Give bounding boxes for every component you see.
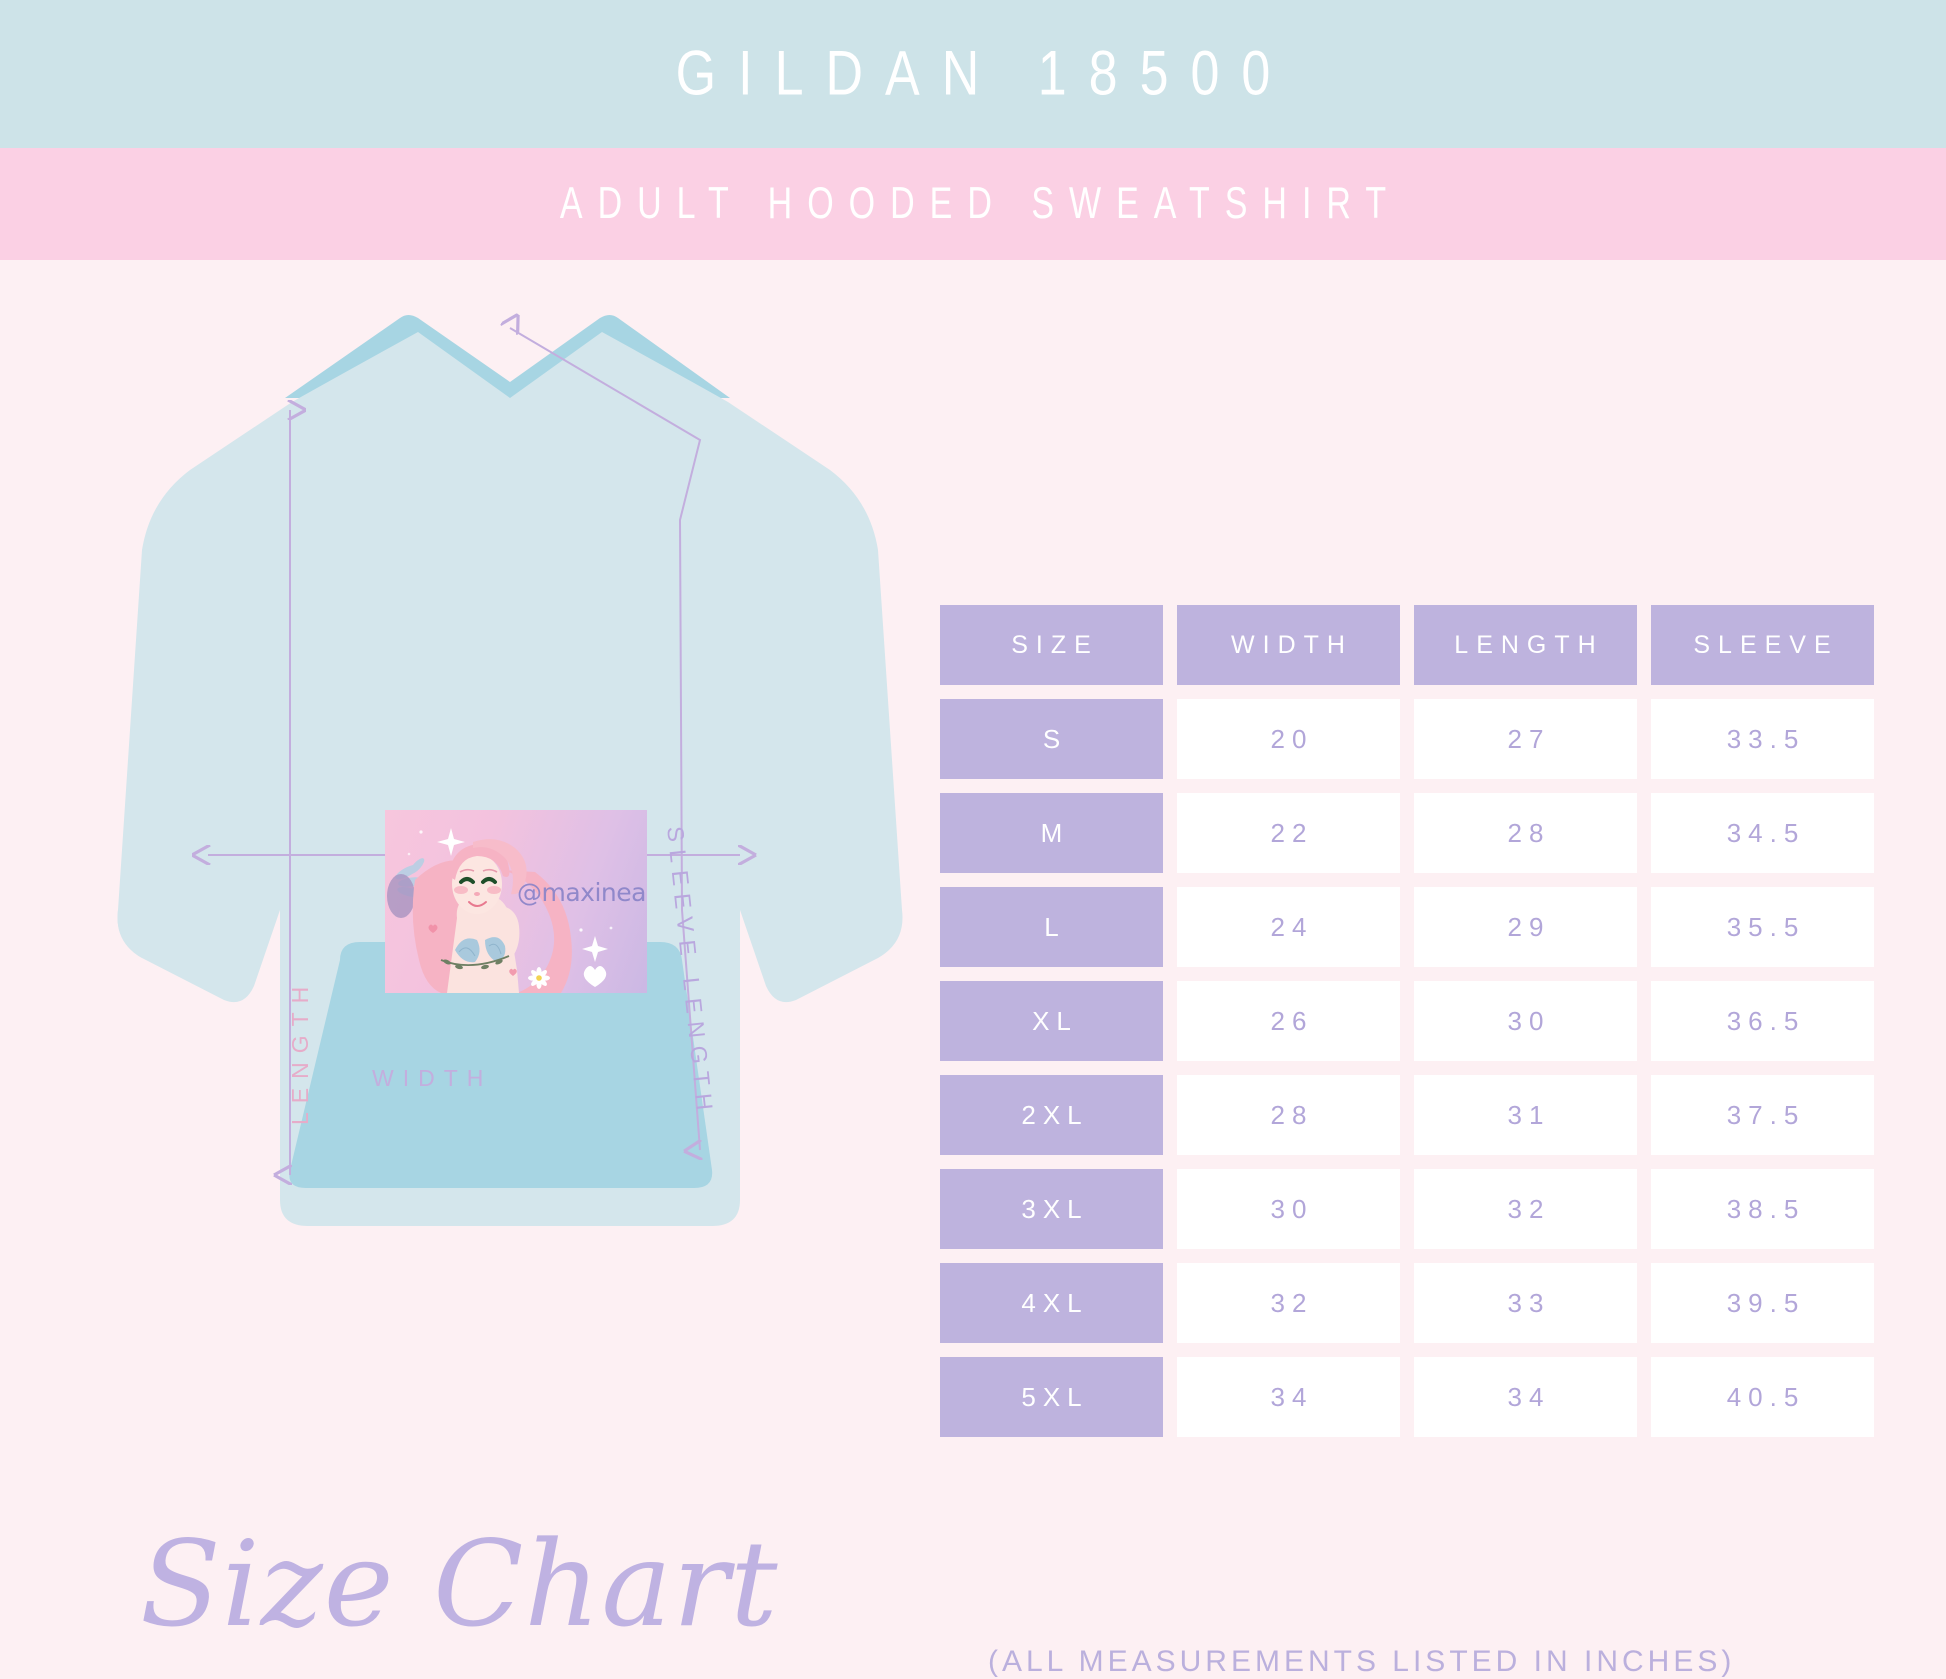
cell-width: 32 bbox=[1177, 1263, 1400, 1343]
cell-width: 30 bbox=[1177, 1169, 1400, 1249]
main-content: @maxineart WIDTH LENGTH SLEEVE LENGTH Si… bbox=[0, 260, 1946, 1549]
brand-header-band: GILDAN 18500 bbox=[0, 0, 1946, 148]
cell-size: L bbox=[940, 887, 1163, 967]
cell-size: 3XL bbox=[940, 1169, 1163, 1249]
column-header-width: WIDTH bbox=[1177, 605, 1400, 685]
cell-width: 28 bbox=[1177, 1075, 1400, 1155]
hoodie-diagram-svg bbox=[40, 270, 920, 1270]
cell-size: S bbox=[940, 699, 1163, 779]
width-label: WIDTH bbox=[372, 1065, 492, 1092]
table-row: 4XL 32 33 39.5 bbox=[940, 1263, 1880, 1343]
cell-length: 28 bbox=[1414, 793, 1637, 873]
table-header-row: SIZE WIDTH LENGTH SLEEVE bbox=[940, 605, 1880, 685]
cell-sleeve: 33.5 bbox=[1651, 699, 1874, 779]
cell-size: XL bbox=[940, 981, 1163, 1061]
cell-sleeve: 40.5 bbox=[1651, 1357, 1874, 1437]
column-header-sleeve: SLEEVE bbox=[1651, 605, 1874, 685]
cell-sleeve: 34.5 bbox=[1651, 793, 1874, 873]
table-row: S 20 27 33.5 bbox=[940, 699, 1880, 779]
column-header-length: LENGTH bbox=[1414, 605, 1637, 685]
cell-length: 32 bbox=[1414, 1169, 1637, 1249]
cell-size: M bbox=[940, 793, 1163, 873]
table-row: XL 26 30 36.5 bbox=[940, 981, 1880, 1061]
table-row: L 24 29 35.5 bbox=[940, 887, 1880, 967]
cell-size: 4XL bbox=[940, 1263, 1163, 1343]
cell-width: 24 bbox=[1177, 887, 1400, 967]
cell-size: 2XL bbox=[940, 1075, 1163, 1155]
cell-sleeve: 39.5 bbox=[1651, 1263, 1874, 1343]
column-header-size: SIZE bbox=[940, 605, 1163, 685]
length-label: LENGTH bbox=[287, 978, 314, 1125]
table-row: 3XL 30 32 38.5 bbox=[940, 1169, 1880, 1249]
cell-width: 22 bbox=[1177, 793, 1400, 873]
cell-width: 26 bbox=[1177, 981, 1400, 1061]
size-table: SIZE WIDTH LENGTH SLEEVE S 20 27 33.5 M … bbox=[940, 605, 1880, 1451]
brand-title: GILDAN 18500 bbox=[654, 37, 1293, 110]
cell-length: 30 bbox=[1414, 981, 1637, 1061]
measurement-units-note: (ALL MEASUREMENTS LISTED IN INCHES) bbox=[988, 1645, 1735, 1679]
cell-sleeve: 35.5 bbox=[1651, 887, 1874, 967]
artist-watermark: @maxineart bbox=[517, 878, 647, 907]
hoodie-illustration: @maxineart WIDTH LENGTH SLEEVE LENGTH bbox=[40, 270, 920, 1270]
table-row: 2XL 28 31 37.5 bbox=[940, 1075, 1880, 1155]
cell-length: 31 bbox=[1414, 1075, 1637, 1155]
cell-sleeve: 38.5 bbox=[1651, 1169, 1874, 1249]
cell-sleeve: 37.5 bbox=[1651, 1075, 1874, 1155]
size-chart-script-title: Size Chart bbox=[140, 1515, 779, 1653]
cell-length: 27 bbox=[1414, 699, 1637, 779]
product-header-band: ADULT HOODED SWEATSHIRT bbox=[0, 148, 1946, 260]
product-title: ADULT HOODED SWEATSHIRT bbox=[545, 179, 1401, 230]
cell-sleeve: 36.5 bbox=[1651, 981, 1874, 1061]
table-row: M 22 28 34.5 bbox=[940, 793, 1880, 873]
cell-width: 20 bbox=[1177, 699, 1400, 779]
cell-length: 34 bbox=[1414, 1357, 1637, 1437]
print-graphic: @maxineart bbox=[385, 810, 647, 993]
cell-size: 5XL bbox=[940, 1357, 1163, 1437]
cell-length: 29 bbox=[1414, 887, 1637, 967]
table-row: 5XL 34 34 40.5 bbox=[940, 1357, 1880, 1437]
cell-length: 33 bbox=[1414, 1263, 1637, 1343]
cell-width: 34 bbox=[1177, 1357, 1400, 1437]
